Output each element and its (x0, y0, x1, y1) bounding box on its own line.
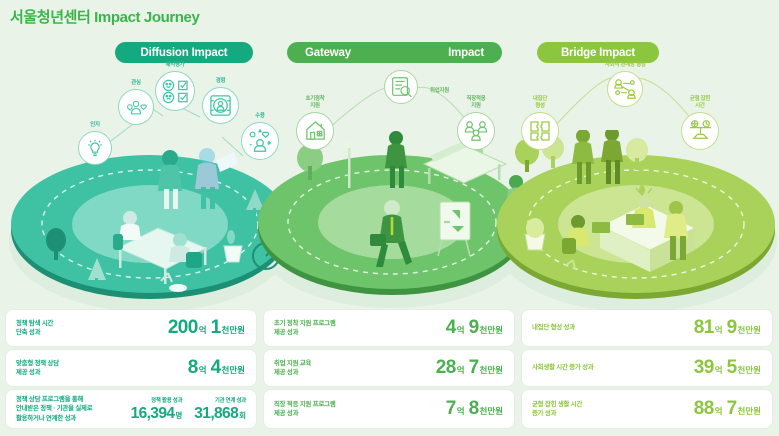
stat-value: 39 억 5 천만원 (694, 357, 762, 379)
stat-unit-sub: 천만원 (222, 324, 245, 336)
stat-value-sub: 4 (211, 357, 221, 379)
node-gateway-adaptation: 직장적응 지원 (457, 96, 495, 150)
stat-card: 내집단 형성 성과 81 억 9 천만원 (522, 310, 772, 346)
stat-label: 균형 잡힌 생활 시간 증가 성과 (532, 400, 582, 419)
stat-unit-sub: 천만원 (738, 405, 761, 417)
stat-value-dual: 정책 활용 성과 16,394명 기관 연계 성과 31,868회 (131, 396, 246, 423)
experience-target-icon (202, 87, 239, 124)
stat-unit-main: 억 (457, 405, 465, 417)
node-label: 직장적응 지원 (466, 96, 485, 110)
stat-unit-sub: 천만원 (480, 364, 503, 376)
lightbulb-icon (78, 131, 112, 165)
stat-dual-item: 기관 연계 성과 31,868회 (194, 396, 246, 423)
stat-unit-main: 억 (715, 324, 723, 336)
node-label: 해석평가 (165, 62, 184, 69)
stat-card: 정책 상담 프로그램을 통해 안내받은 정책 · 기관을 실제로 활용하거나 연… (6, 390, 256, 428)
cluster-diffusion: 인지 관심 해석평가 (0, 60, 290, 170)
stat-value: 7 억 8 천만원 (446, 398, 504, 420)
stat-unit-sub: 천만원 (738, 364, 761, 376)
stat-card: 정책 탐색 시간 단축 성과 200 억 1 천만원 (6, 310, 256, 346)
node-diffusion-cognition: 인지 (78, 122, 112, 165)
node-diffusion-interest: 관심 (118, 80, 154, 125)
stat-dual-caption: 정책 활용 성과 (151, 396, 182, 404)
stat-unit-sub: 천만원 (480, 405, 503, 417)
people-group-icon (457, 112, 495, 150)
stats-column-bridge: 내집단 형성 성과 81 억 9 천만원 사회생활 시간 증가 성과 39 억 … (522, 310, 772, 432)
node-label: 내집단 형성 (533, 96, 547, 110)
stat-value-main: 200 (168, 317, 198, 339)
stat-unit-sub: 천만원 (480, 324, 503, 336)
node-gateway-employment: 취업지원 (384, 70, 418, 104)
stat-card: 사회생활 시간 증가 성과 39 억 5 천만원 (522, 350, 772, 386)
stat-unit-main: 억 (715, 364, 723, 376)
stat-card: 초기 정착 지원 프로그램 제공 성과 4 억 9 천만원 (264, 310, 514, 346)
review-faces-icon (155, 71, 195, 111)
node-label: 인지 (90, 122, 100, 129)
stat-card: 직장 적응 지원 프로그램 제공 성과 7 억 8 천만원 (264, 390, 514, 428)
cluster-bridge: 내집단 형성 사회적 관계망 형성 (505, 62, 735, 167)
stat-unit-main: 억 (199, 364, 207, 376)
node-diffusion-evaluation: 해석평가 (155, 62, 195, 111)
node-label: 초기정착 지원 (305, 96, 324, 110)
stat-value: 8 억 4 천만원 (188, 357, 246, 379)
network-icon (607, 71, 643, 107)
stat-dual-caption: 기관 연계 성과 (215, 396, 246, 404)
stats-column-diffusion: 정책 탐색 시간 단축 성과 200 억 1 천만원 맞춤형 정책 상담 제공 … (6, 310, 256, 432)
stat-dual-value: 31,868 (194, 405, 238, 422)
stat-card: 균형 잡힌 생활 시간 증가 성과 88 억 7 천만원 (522, 390, 772, 428)
stat-unit-sub: 천만원 (222, 364, 245, 376)
job-document-icon (384, 70, 418, 104)
badge-diffusion-label: Diffusion Impact (141, 47, 228, 59)
stat-value: 200 억 1 천만원 (168, 317, 246, 339)
stat-value-sub: 5 (727, 357, 737, 379)
puzzle-icon (521, 112, 559, 150)
node-bridge-balance: 균형 잡힌 시간 (681, 96, 719, 150)
stat-label: 정책 탐색 시간 단축 성과 (16, 319, 53, 338)
stat-value-sub: 8 (469, 398, 479, 420)
node-label: 수용 (255, 113, 265, 120)
cluster-gateway: 초기정착 지원 취업지원 (285, 68, 505, 168)
node-gateway-settlement: 초기정착 지원 (296, 96, 334, 150)
stat-value-main: 88 (694, 398, 714, 420)
badge-gateway-impact: Gateway Impact (287, 42, 502, 63)
stat-value: 28 억 7 천만원 (436, 357, 504, 379)
stat-label: 맞춤형 정책 상담 제공 성과 (16, 359, 59, 378)
stat-card: 맞춤형 정책 상담 제공 성과 8 억 4 천만원 (6, 350, 256, 386)
balance-scale-icon (681, 112, 719, 150)
node-diffusion-acceptance: 수용 (241, 113, 279, 160)
stat-label: 사회생활 시간 증가 성과 (532, 363, 594, 372)
node-label: 관심 (131, 80, 141, 87)
stat-value-sub: 1 (211, 317, 221, 339)
stats-column-gateway: 초기 정착 지원 프로그램 제공 성과 4 억 9 천만원 취업 지원 교육 제… (264, 310, 514, 432)
stat-card: 취업 지원 교육 제공 성과 28 억 7 천만원 (264, 350, 514, 386)
stat-dual-unit: 회 (239, 411, 246, 420)
stat-value: 81 억 9 천만원 (694, 317, 762, 339)
stat-value: 4 억 9 천만원 (446, 317, 504, 339)
stat-value-sub: 7 (469, 357, 479, 379)
stat-dual-item: 정책 활용 성과 16,394명 (131, 396, 183, 423)
stat-value-main: 8 (188, 357, 198, 379)
house-icon (296, 112, 334, 150)
stat-dual-value: 16,394 (131, 405, 175, 422)
stat-dual-unit: 명 (175, 411, 182, 420)
stat-unit-main: 억 (457, 324, 465, 336)
badge-bridge-label: Bridge Impact (561, 47, 635, 59)
node-label: 경험 (216, 78, 226, 85)
node-label: 사회적 관계망 형성 (605, 62, 646, 69)
node-bridge-ingroup: 내집단 형성 (521, 96, 559, 150)
badge-gateway-label-1: Gateway (305, 47, 351, 59)
stat-value: 88 억 7 천만원 (694, 398, 762, 420)
stat-label: 초기 정착 지원 프로그램 제공 성과 (274, 319, 336, 338)
badge-bridge-impact: Bridge Impact (537, 42, 659, 63)
stat-label: 직장 적응 지원 프로그램 제공 성과 (274, 400, 336, 419)
stat-label: 취업 지원 교육 제공 성과 (274, 359, 311, 378)
acceptance-person-icon (241, 122, 279, 160)
stat-value-sub: 9 (469, 317, 479, 339)
node-bridge-network: 사회적 관계망 형성 (605, 62, 646, 107)
stat-label: 내집단 형성 성과 (532, 323, 575, 332)
stat-value-main: 4 (446, 317, 456, 339)
stat-value-sub: 9 (727, 317, 737, 339)
stat-unit-sub: 천만원 (738, 324, 761, 336)
node-label: 취업지원 (430, 88, 449, 95)
stat-unit-main: 억 (199, 324, 207, 336)
node-label: 균형 잡힌 시간 (690, 96, 710, 110)
stat-value-main: 7 (446, 398, 456, 420)
stat-value-main: 28 (436, 357, 456, 379)
infographic-page: 서울청년센터 Impact Journey Diffusion Impact G… (0, 0, 779, 436)
person-interest-icon (118, 89, 154, 125)
badge-gateway-label-2: Impact (448, 47, 484, 59)
node-diffusion-experience: 경험 (202, 78, 239, 124)
stat-value-main: 39 (694, 357, 714, 379)
stat-value-main: 81 (694, 317, 714, 339)
stat-unit-main: 억 (715, 405, 723, 417)
stat-label: 정책 상담 프로그램을 통해 안내받은 정책 · 기관을 실제로 활용하거나 연… (16, 395, 92, 423)
stat-unit-main: 억 (457, 364, 465, 376)
stat-value-sub: 7 (727, 398, 737, 420)
page-title: 서울청년센터 Impact Journey (10, 6, 199, 27)
